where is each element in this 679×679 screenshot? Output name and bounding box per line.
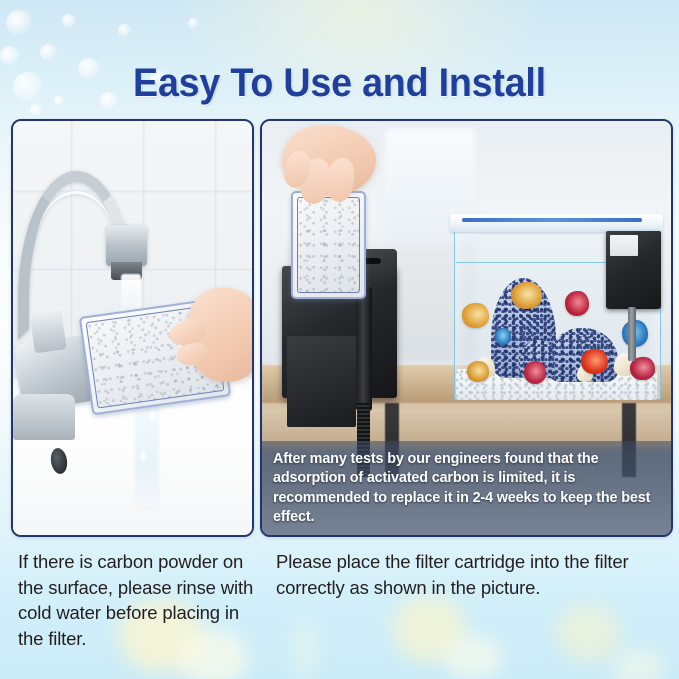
bokeh-dot: [30, 104, 42, 116]
floral-blur: [392, 596, 466, 662]
overlay-note-banner: After many tests by our engineers found …: [262, 441, 671, 535]
caption-rinse-step: If there is carbon powder on the surface…: [18, 549, 266, 651]
filter-unit-cartridge-chamber: [287, 336, 357, 427]
aquarium-lid: [450, 214, 663, 231]
panel-install-step: After many tests by our engineers found …: [260, 119, 673, 537]
bokeh-dot: [6, 10, 32, 36]
faucet-head: [106, 225, 147, 266]
cartridge-carbon-pad: [297, 197, 361, 293]
inserting-cartridge-into-hang-on-filter-photo: After many tests by our engineers found …: [262, 121, 671, 535]
faucet-rinsing-filter-cartridge-photo: [13, 121, 252, 535]
betta-fish: [524, 361, 546, 384]
floral-blur: [292, 618, 318, 679]
betta-fish: [467, 361, 489, 382]
bokeh-dot: [40, 44, 57, 61]
bokeh-dot: [118, 24, 131, 37]
hang-on-back-filter-label: [610, 235, 639, 256]
betta-fish: [581, 349, 608, 374]
hang-on-back-filter-intake-tube: [628, 307, 636, 361]
betta-fish: [462, 303, 489, 328]
caption-install-step: Please place the filter cartridge into t…: [276, 549, 671, 600]
betta-fish: [495, 328, 511, 345]
floral-blur: [612, 648, 664, 679]
floral-blur: [444, 636, 502, 679]
water-splash: [140, 452, 146, 461]
infographic-page: Easy To Use and Install: [0, 0, 679, 679]
overlay-note-text: After many tests by our engineers found …: [273, 450, 661, 527]
floral-blur: [556, 604, 620, 662]
bokeh-dot: [0, 46, 20, 66]
bokeh-dot: [188, 18, 199, 29]
betta-fish: [511, 282, 542, 309]
faucet-base: [13, 394, 75, 440]
page-title: Easy To Use and Install: [20, 60, 658, 106]
bokeh-dot: [62, 14, 76, 28]
betta-fish: [565, 291, 590, 316]
aquarium-lid-light-bar: [462, 218, 642, 223]
filter-cartridge: [291, 191, 367, 299]
panel-rinse-step: [11, 119, 254, 537]
filter-unit-stem: [356, 287, 372, 411]
